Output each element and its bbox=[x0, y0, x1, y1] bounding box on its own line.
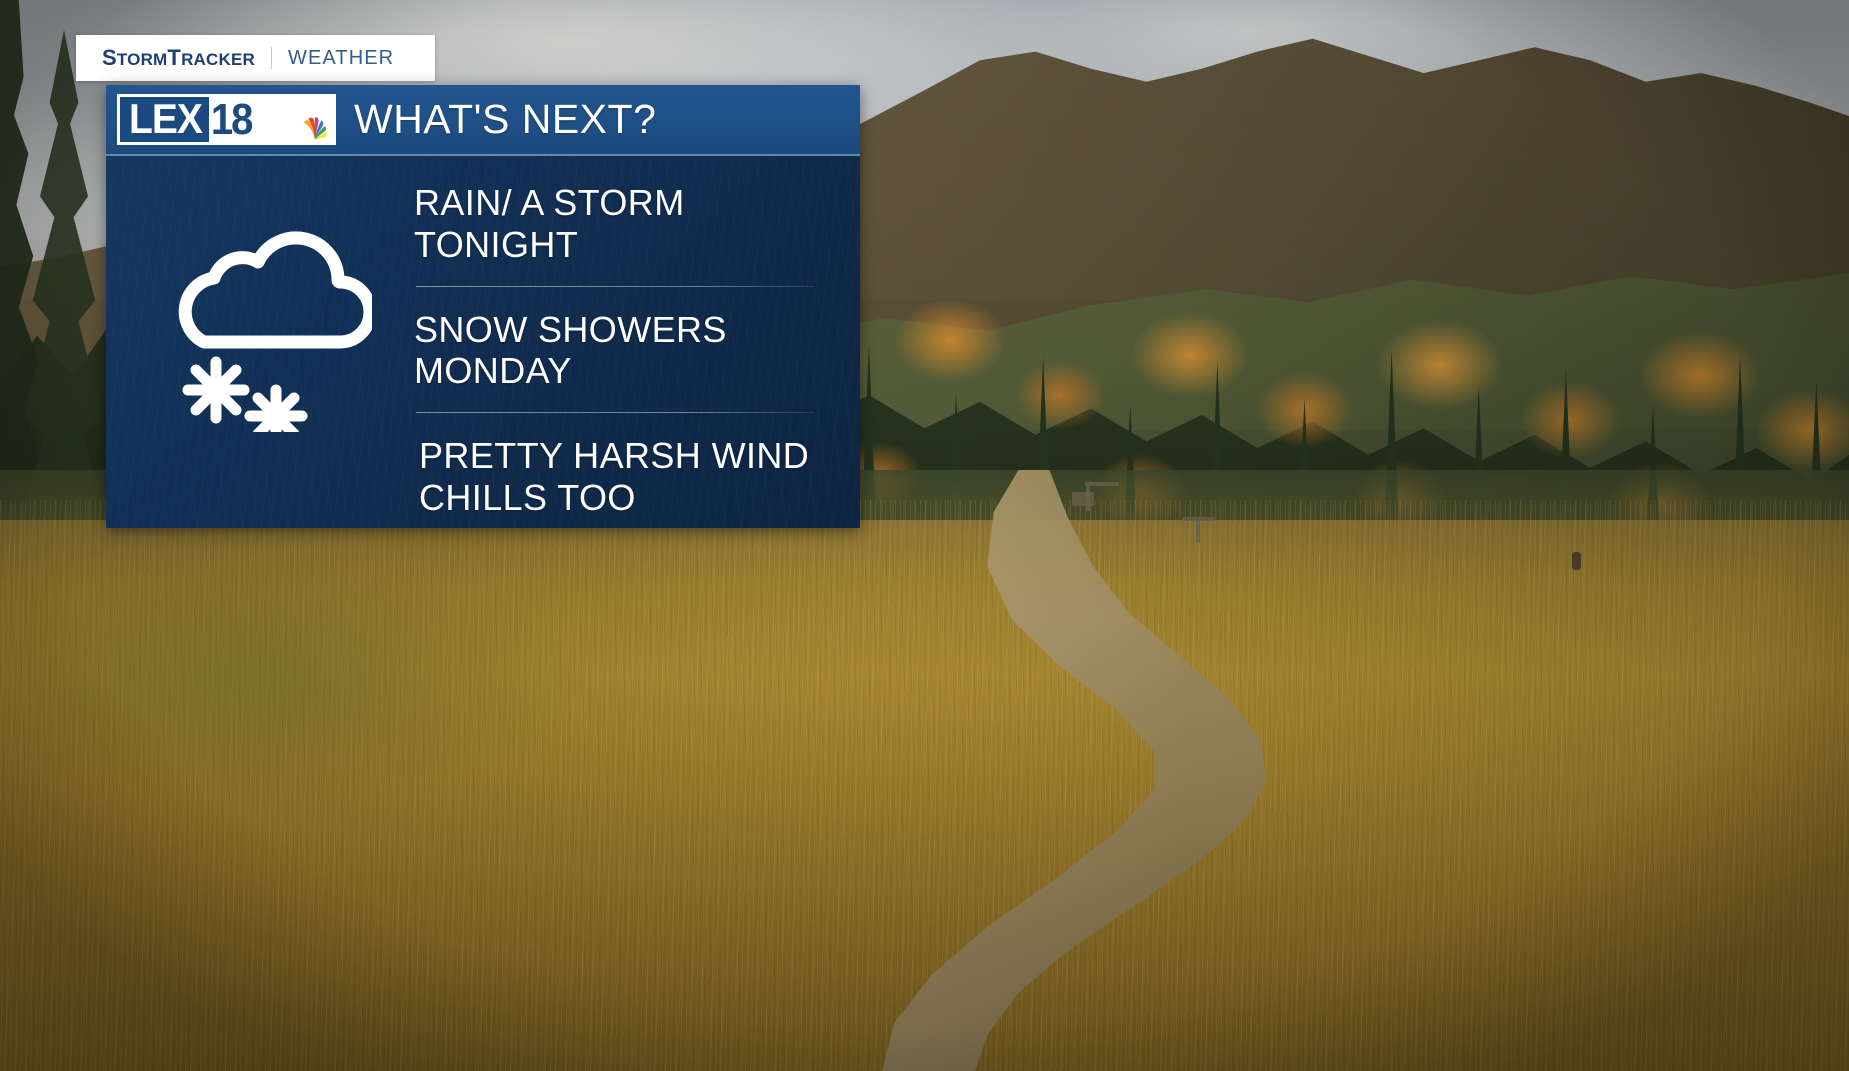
panel-body: RAIN/ A STORM TONIGHT SNOW SHOWERS MONDA… bbox=[106, 156, 860, 528]
lex18-logo-number-block: 18 bbox=[209, 97, 333, 142]
stormtracker-subtitle: WEATHER bbox=[288, 47, 394, 70]
forecast-divider-2 bbox=[416, 412, 814, 413]
whats-next-panel: LEX 18 WHAT'S NEXT? bbox=[106, 85, 860, 528]
weather-icon-column bbox=[106, 156, 406, 528]
stormtracker-brand: STORMTRACKER bbox=[102, 45, 255, 71]
brand-s: S bbox=[102, 45, 117, 70]
screenshot-root: STORMTRACKER WEATHER LEX 18 bbox=[0, 0, 1849, 1071]
brand-torm: TORM bbox=[117, 50, 168, 69]
nbc-peacock-icon bbox=[300, 115, 330, 141]
panel-title: WHAT'S NEXT? bbox=[354, 96, 656, 143]
ski-lift-arm bbox=[1085, 482, 1119, 486]
forecast-list: RAIN/ A STORM TONIGHT SNOW SHOWERS MONDA… bbox=[406, 156, 860, 528]
hiker-figure bbox=[1572, 552, 1581, 570]
stormtracker-tab: STORMTRACKER WEATHER bbox=[76, 35, 435, 81]
brand-racker: RACKER bbox=[181, 50, 255, 69]
forecast-item-1: RAIN/ A STORM TONIGHT bbox=[414, 182, 854, 266]
lex18-logo: LEX 18 bbox=[117, 94, 336, 145]
forecast-item-3: PRETTY HARSH WIND CHILLS TOO bbox=[419, 435, 854, 519]
ski-lift-pylon bbox=[1196, 520, 1200, 542]
lex18-logo-lex-text: LEX bbox=[120, 95, 209, 144]
forecast-item-2: SNOW SHOWERS MONDAY bbox=[414, 309, 854, 393]
lex18-logo-number: 18 bbox=[211, 98, 252, 141]
tab-divider bbox=[271, 47, 272, 69]
ski-lift-arm bbox=[1182, 517, 1214, 521]
cloud-with-snow-icon bbox=[144, 194, 372, 432]
panel-header: LEX 18 WHAT'S NEXT? bbox=[106, 85, 860, 156]
ski-lift-pylon bbox=[1086, 485, 1090, 511]
forecast-divider-1 bbox=[416, 286, 814, 287]
meadow-green-patch bbox=[0, 560, 760, 860]
brand-t: T bbox=[167, 45, 181, 70]
hut bbox=[1072, 492, 1094, 506]
